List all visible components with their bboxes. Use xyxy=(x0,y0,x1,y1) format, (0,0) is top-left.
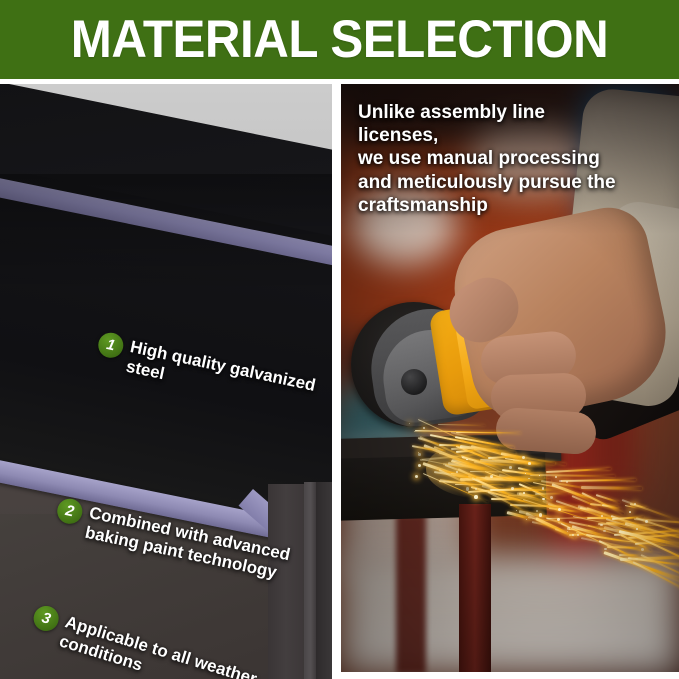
grinder-knob xyxy=(401,369,427,395)
background-floor xyxy=(341,554,679,672)
workbench-leg xyxy=(459,504,491,672)
right-panel-caption: Unlike assembly line licenses, we use ma… xyxy=(358,101,618,217)
page-title: MATERIAL SELECTION xyxy=(24,0,655,79)
material-selection-infographic: MATERIAL SELECTION 1 High quality galvan… xyxy=(0,0,679,679)
steel-plate-face xyxy=(341,453,547,521)
callout-badge-1: 1 xyxy=(96,330,126,360)
cabinet-rear-gap xyxy=(316,482,332,679)
callout-badge-2: 2 xyxy=(55,496,85,526)
left-image-panel: 1 High quality galvanized steel 2 Combin… xyxy=(0,84,332,679)
header-banner: MATERIAL SELECTION xyxy=(0,0,679,79)
right-image-panel: Unlike assembly line licenses, we use ma… xyxy=(341,84,679,672)
cabinet-side-edge xyxy=(304,482,316,679)
workbench-leg-rear xyxy=(396,514,426,672)
worker-finger-3 xyxy=(495,407,598,456)
